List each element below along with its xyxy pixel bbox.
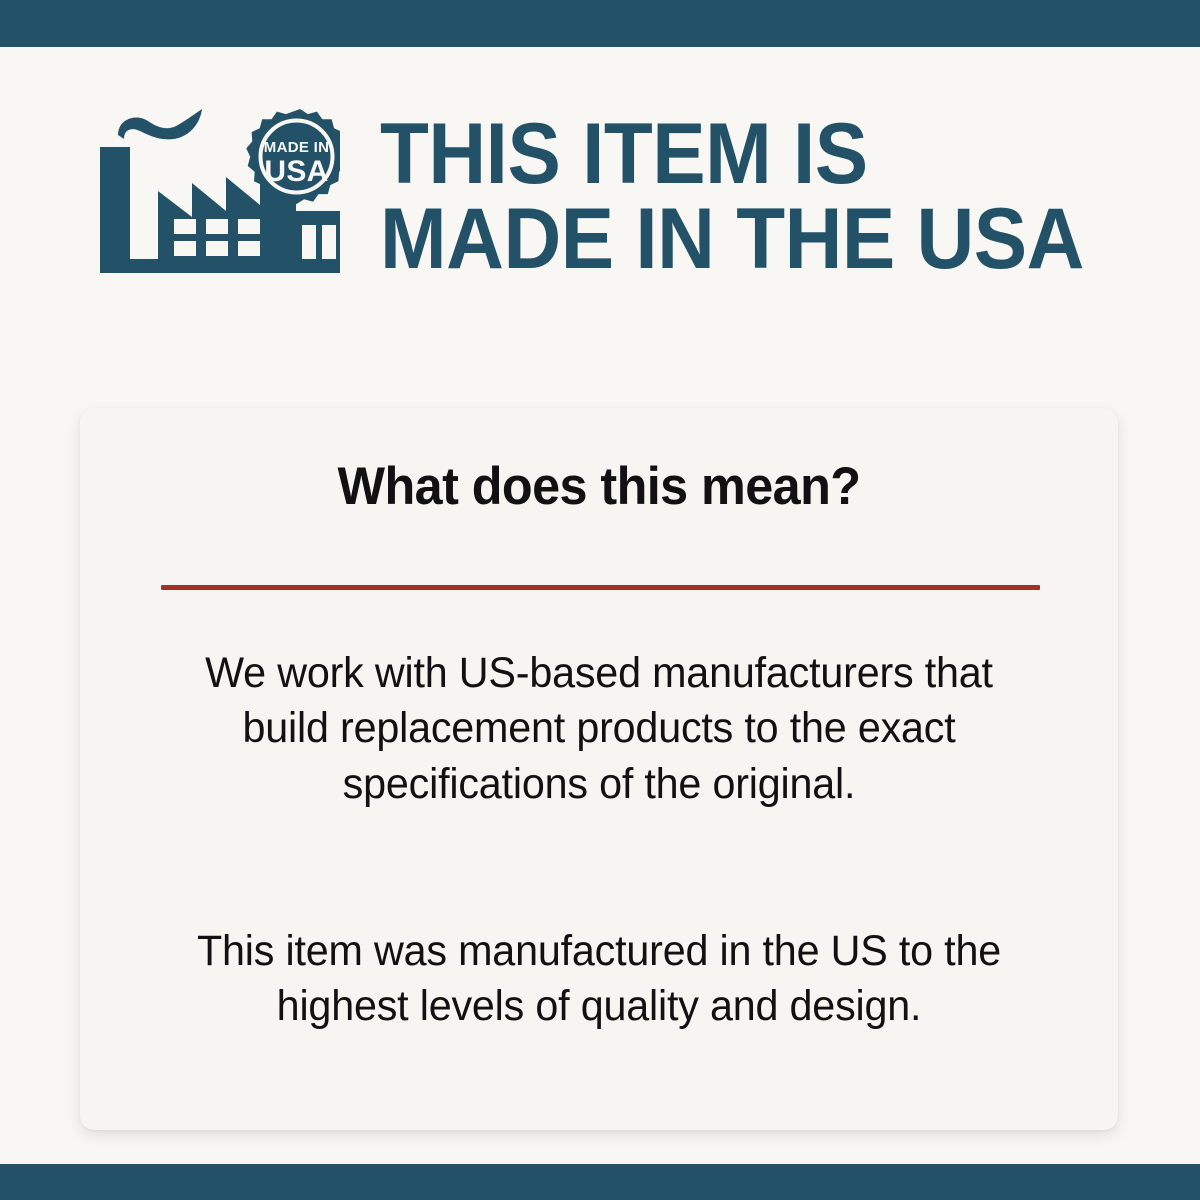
made-in-usa-logo: MADE IN USA [100, 107, 340, 287]
explanation-card: What does this mean? We work with US-bas… [80, 408, 1118, 1130]
badge-line2-text: USA [264, 155, 328, 188]
factory-window [174, 241, 196, 256]
bottom-accent-bar [0, 1164, 1200, 1200]
factory-base [100, 259, 340, 273]
factory-window [206, 241, 228, 256]
page-canvas: MADE IN USA THIS ITEM IS MADE IN THE USA… [0, 47, 1200, 1164]
factory-window [238, 219, 260, 234]
factory-chimney [100, 147, 130, 259]
factory-window [238, 241, 260, 256]
card-paragraph-1: We work with US-based manufacturers that… [158, 646, 1039, 812]
factory-window [206, 219, 228, 234]
headline: THIS ITEM IS MADE IN THE USA [380, 112, 1084, 282]
factory-door [302, 225, 316, 259]
red-divider [161, 585, 1040, 590]
made-in-usa-infographic: { "theme": { "accent_blue": "#235268", "… [0, 0, 1200, 1200]
factory-door [322, 225, 336, 259]
top-accent-bar [0, 0, 1200, 47]
card-paragraph-2: This item was manufactured in the US to … [158, 924, 1039, 1035]
header-banner: MADE IN USA THIS ITEM IS MADE IN THE USA [100, 102, 1140, 292]
smoke-plume-icon [118, 109, 202, 139]
card-title: What does this mean? [106, 456, 1092, 517]
headline-line-2: MADE IN THE USA [380, 197, 1084, 282]
headline-line-1: THIS ITEM IS [380, 112, 1084, 197]
badge-line1-text: MADE IN [264, 139, 329, 156]
factory-window [174, 219, 196, 234]
